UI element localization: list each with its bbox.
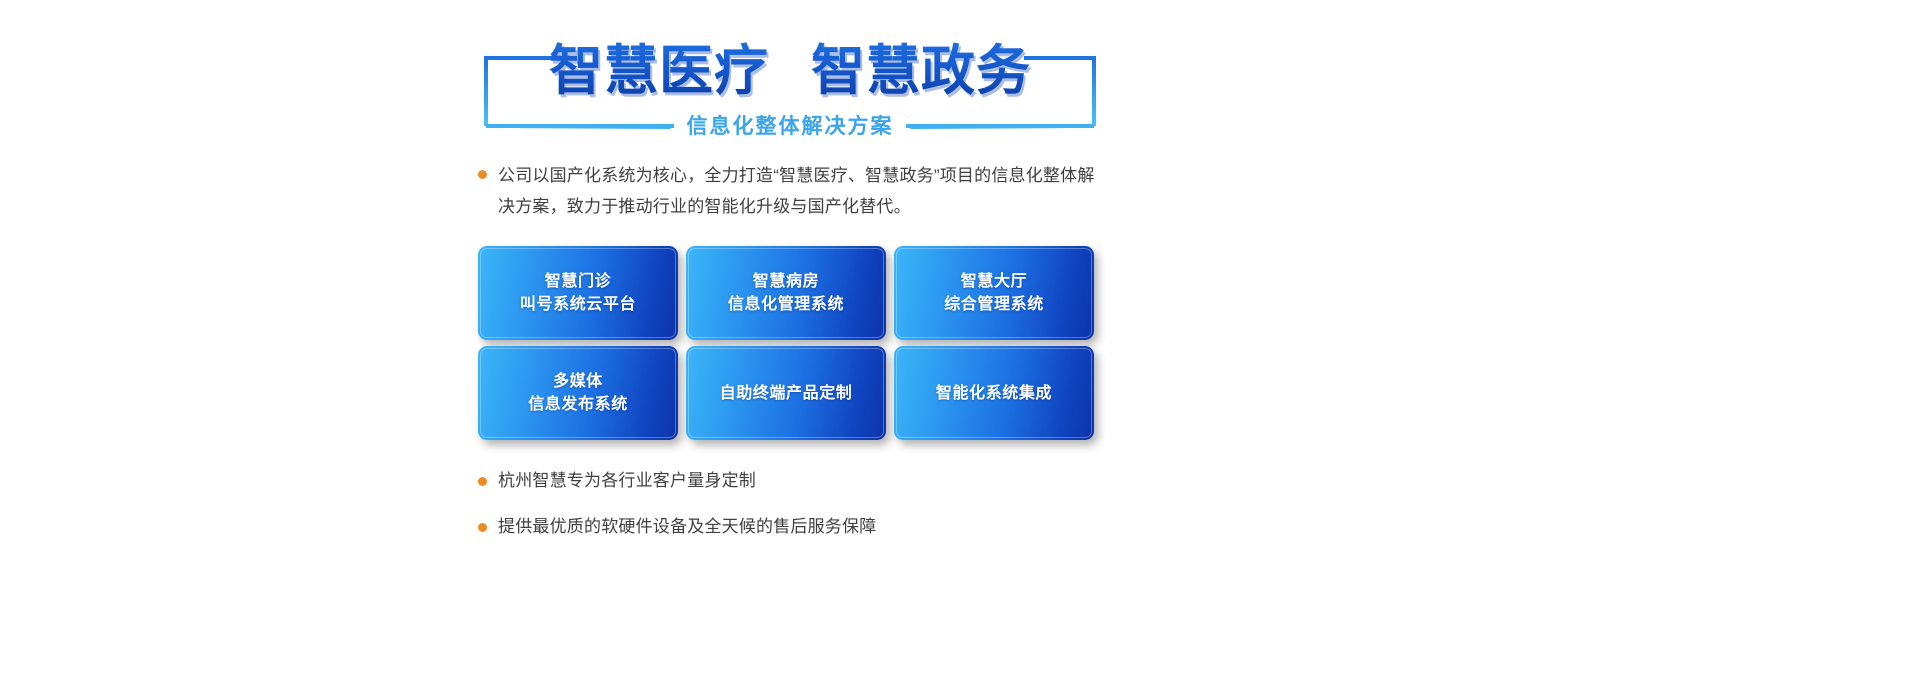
- solution-card-label: 多媒体 信息发布系统: [528, 370, 628, 416]
- page-title: 智慧医疗智慧政务: [478, 40, 1102, 102]
- footer-bullet-text: 提供最优质的软硬件设备及全天候的售后服务保障: [498, 514, 876, 540]
- header-block: 智慧医疗智慧政务 信息化整体解决方案: [478, 22, 1102, 138]
- solution-card-label: 自助终端产品定制: [720, 382, 853, 405]
- page-subtitle: 信息化整体解决方案: [671, 114, 910, 140]
- footer-bullet-text: 杭州智慧专为各行业客户量身定制: [498, 468, 756, 494]
- intro-text: 公司以国产化系统为核心，全力打造“智慧医疗、智慧政务”项目的信息化整体解决方案，…: [498, 160, 1098, 222]
- solution-card-label: 智慧大厅 综合管理系统: [944, 270, 1044, 316]
- bullet-dot-icon: [478, 523, 487, 532]
- bullet-dot-icon: [478, 477, 487, 486]
- footer-bullets: 杭州智慧专为各行业客户量身定制 提供最优质的软硬件设备及全天候的售后服务保障: [478, 468, 1118, 560]
- title-part-1: 智慧医疗: [549, 40, 769, 102]
- solution-card-label: 智慧门诊 叫号系统云平台: [520, 270, 636, 316]
- solution-card-5[interactable]: 自助终端产品定制: [686, 346, 886, 440]
- footer-bullet-item-2: 提供最优质的软硬件设备及全天候的售后服务保障: [478, 514, 1118, 540]
- bullet-dot-icon: [478, 170, 487, 179]
- solution-card-2[interactable]: 智慧病房 信息化管理系统: [686, 246, 886, 340]
- footer-bullet-item-1: 杭州智慧专为各行业客户量身定制: [478, 468, 1118, 494]
- solution-card-4[interactable]: 多媒体 信息发布系统: [478, 346, 678, 440]
- solution-card-grid: 智慧门诊 叫号系统云平台 智慧病房 信息化管理系统 智慧大厅 综合管理系统 多媒…: [478, 246, 1094, 440]
- subtitle-row: 信息化整体解决方案: [478, 114, 1102, 140]
- intro-paragraph: 公司以国产化系统为核心，全力打造“智慧医疗、智慧政务”项目的信息化整体解决方案，…: [478, 160, 1098, 222]
- subtitle-rule-right: [910, 126, 1062, 129]
- solution-card-1[interactable]: 智慧门诊 叫号系统云平台: [478, 246, 678, 340]
- subtitle-rule-left: [519, 126, 671, 129]
- solution-card-6[interactable]: 智能化系统集成: [894, 346, 1094, 440]
- promo-banner: 智慧医疗智慧政务 信息化整体解决方案 公司以国产化系统为核心，全力打造“智慧医疗…: [0, 0, 1920, 680]
- solution-card-label: 智能化系统集成: [936, 382, 1052, 405]
- solution-card-label: 智慧病房 信息化管理系统: [728, 270, 844, 316]
- title-part-2: 智慧政务: [811, 40, 1031, 102]
- solution-card-3[interactable]: 智慧大厅 综合管理系统: [894, 246, 1094, 340]
